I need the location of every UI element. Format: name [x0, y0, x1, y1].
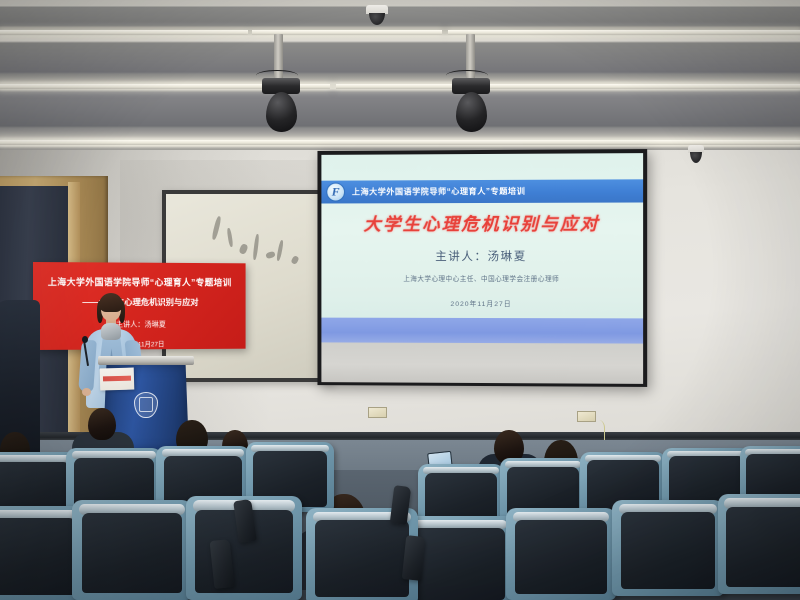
ceiling: [0, 0, 800, 152]
slide-footer-bar: [321, 318, 643, 344]
university-logo-glyph: F: [332, 186, 340, 198]
slide-affiliation: 上海大学心理中心主任、中国心理学会注册心理师: [321, 273, 643, 283]
standing-person-left: [0, 300, 40, 452]
seat-row2-a-cushion: [0, 518, 76, 595]
podium-desktop: [98, 356, 194, 365]
wall-cable: [590, 420, 605, 440]
seat-row2-b[interactable]: [72, 500, 192, 600]
speaker-hand-left: [82, 388, 91, 396]
seat-right-r2-c-cushion: [621, 512, 715, 589]
seat-right-r2-a-cushion: [413, 528, 505, 600]
whiteboard-mark-5: [265, 251, 275, 259]
slide-header-bar: F 上海大学外国语学院导师“心理育人”专题培训: [321, 179, 643, 204]
seat-right-r2-c[interactable]: [612, 500, 724, 596]
seat-row2-b-cushion: [82, 513, 183, 593]
seat-right-r2-d-cushion: [726, 507, 800, 587]
audience-head-1: [88, 408, 116, 440]
whiteboard-mark-2: [227, 228, 234, 247]
whiteboard-mark-6: [276, 240, 284, 261]
slide-presenter: 主讲人：汤琳夏: [321, 247, 643, 263]
ceiling-light-strip-3: [448, 30, 800, 35]
whiteboard-mark-3: [238, 243, 248, 255]
projection-screen: F 上海大学外国语学院导师“心理育人”专题培训 大学生心理危机识别与应对 主讲人…: [317, 149, 647, 387]
slide-date: 2020年11月27日: [321, 297, 643, 308]
seat-right-r2-b[interactable]: [506, 508, 616, 600]
slide-header-text: 上海大学外国语学院导师“心理育人”专题培训: [352, 185, 525, 198]
presentation-slide: F 上海大学外国语学院导师“心理育人”专题培训 大学生心理危机识别与应对 主讲人…: [321, 153, 643, 343]
ptz-dome-camera-left-cable: [256, 70, 298, 81]
ptz-dome-camera-right-cable: [446, 70, 488, 81]
red-banner-line-1: 上海大学外国语学院导师“心理育人”专题培训: [33, 274, 246, 289]
seat-right-r2-d[interactable]: [718, 494, 800, 594]
wall-outlet-left[interactable]: [368, 407, 387, 418]
speaker-scarf: [101, 323, 121, 340]
ceiling-light-strip-1: [0, 30, 248, 35]
university-emblem-inner-icon: [139, 397, 153, 412]
ceiling-light-strip-5: [336, 84, 800, 89]
speaker-hair: [99, 293, 123, 312]
seat-right-r2-b-cushion: [515, 520, 607, 594]
microphone-head: [82, 336, 88, 343]
slide-title: 大学生心理危机识别与应对: [321, 210, 643, 236]
whiteboard-mark-4: [252, 234, 259, 260]
seat-front-right-cushion: [315, 520, 409, 597]
ptz-dome-camera-right: [456, 92, 487, 132]
ptz-dome-camera-left: [266, 92, 297, 132]
projection-screen-surface: F 上海大学外国语学院导师“心理育人”专题培训 大学生心理危机识别与应对 主讲人…: [321, 153, 643, 384]
whiteboard-mark-7: [290, 255, 299, 265]
whiteboard-mark-1: [211, 216, 222, 240]
lecture-hall-photo: F 上海大学外国语学院导师“心理育人”专题培训 大学生心理危机识别与应对 主讲人…: [0, 0, 800, 600]
screen-blank-area: [321, 342, 643, 384]
podium-name-card-text: [103, 376, 131, 382]
ceiling-light-strip-6: [0, 140, 800, 145]
university-logo-icon: F: [326, 182, 345, 201]
podium-name-card: [100, 368, 135, 391]
